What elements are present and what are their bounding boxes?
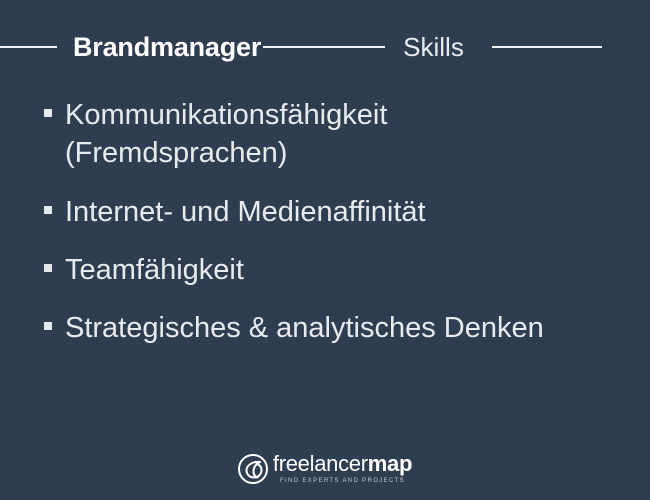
logo-wordmark: freelancermap xyxy=(273,453,412,475)
page-subtitle: Skills xyxy=(403,34,464,60)
logo-tagline: FIND EXPERTS AND PROJECTS xyxy=(273,478,412,484)
list-item-label: Teamfähigkeit xyxy=(65,251,244,289)
page-title: Brandmanager xyxy=(73,34,261,61)
bullet-square-icon xyxy=(44,322,52,330)
slide-header: Brandmanager Skills xyxy=(0,28,650,66)
list-item-label: Internet- und Medienaffinität xyxy=(65,193,426,231)
header-rule-right xyxy=(492,46,602,48)
freelancermap-swirl-icon xyxy=(238,454,268,484)
bullet-square-icon xyxy=(44,206,52,214)
header-rule-middle xyxy=(263,46,385,48)
skills-list: Kommunikationsfähigkeit (Fremdsprachen) … xyxy=(44,96,584,367)
logo-inner: freelancermap FIND EXPERTS AND PROJECTS xyxy=(238,453,412,484)
logo-textblock: freelancermap FIND EXPERTS AND PROJECTS xyxy=(273,453,412,484)
logo-wordmark-light: freelancer xyxy=(273,451,368,476)
list-item: Kommunikationsfähigkeit (Fremdsprachen) xyxy=(44,96,584,173)
list-item: Internet- und Medienaffinität xyxy=(44,193,584,231)
list-item-label: Strategisches & analytisches Denken xyxy=(65,309,544,347)
slide-root: Brandmanager Skills Kommunikationsfähigk… xyxy=(0,0,650,500)
bullet-square-icon xyxy=(44,109,52,117)
logo-wordmark-bold: map xyxy=(368,451,412,476)
bullet-square-icon xyxy=(44,264,52,272)
list-item: Teamfähigkeit xyxy=(44,251,584,289)
list-item-label: Kommunikationsfähigkeit (Fremdsprachen) xyxy=(65,96,584,173)
brand-logo: freelancermap FIND EXPERTS AND PROJECTS xyxy=(0,453,650,484)
list-item: Strategisches & analytisches Denken xyxy=(44,309,584,347)
header-rule-left xyxy=(0,46,57,48)
